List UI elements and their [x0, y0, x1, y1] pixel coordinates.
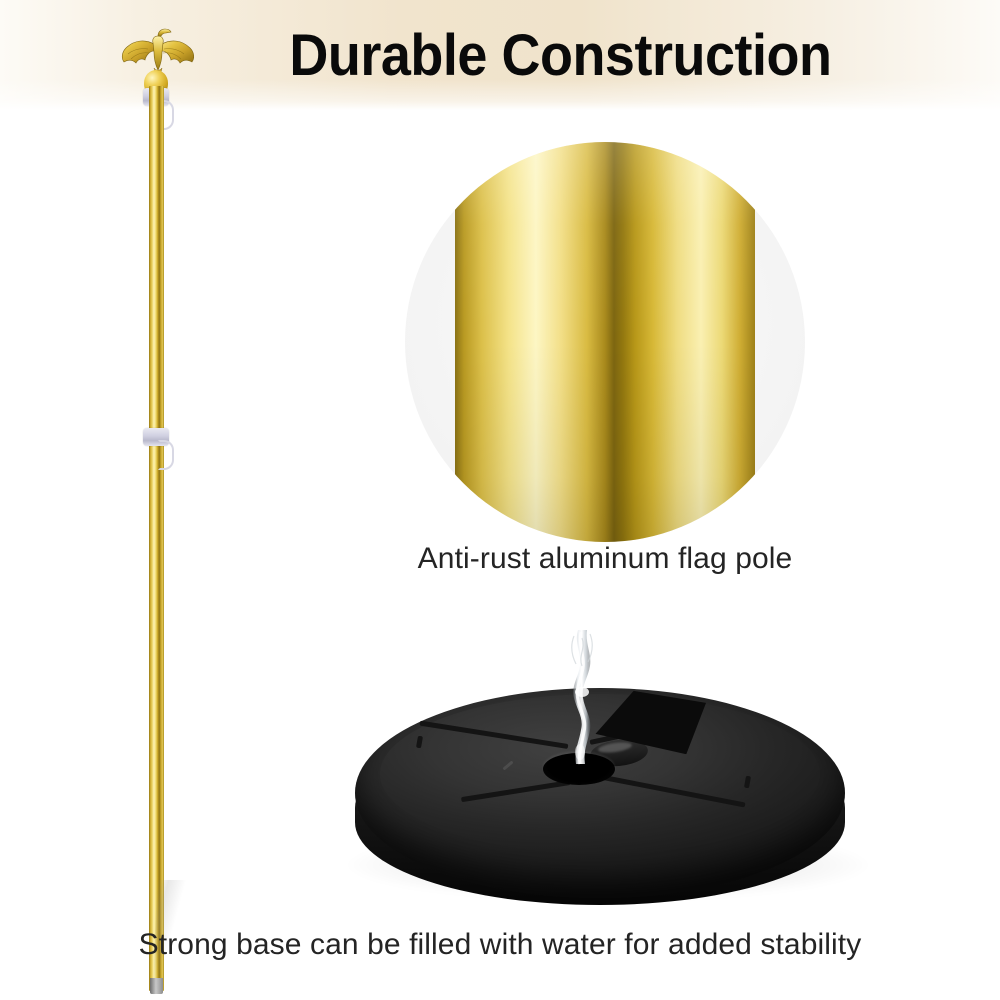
round-water-base-icon [340, 630, 870, 930]
flag-pole-icon [149, 86, 164, 991]
magnified-pole-surface-icon [405, 142, 805, 542]
detail-inset-circle [405, 142, 805, 542]
infographic-canvas: Durable Construction [0, 0, 1000, 1000]
pole-ferrule-tip-icon [150, 978, 163, 994]
base-caption: Strong base can be filled with water for… [60, 928, 940, 962]
flag-clip-hook-icon [158, 440, 174, 470]
detail-inset-caption: Anti-rust aluminum flag pole [340, 542, 870, 576]
water-stream-icon [552, 630, 608, 775]
flag-pole-assembly [0, 0, 320, 1000]
gold-surface-sheen [455, 142, 755, 542]
